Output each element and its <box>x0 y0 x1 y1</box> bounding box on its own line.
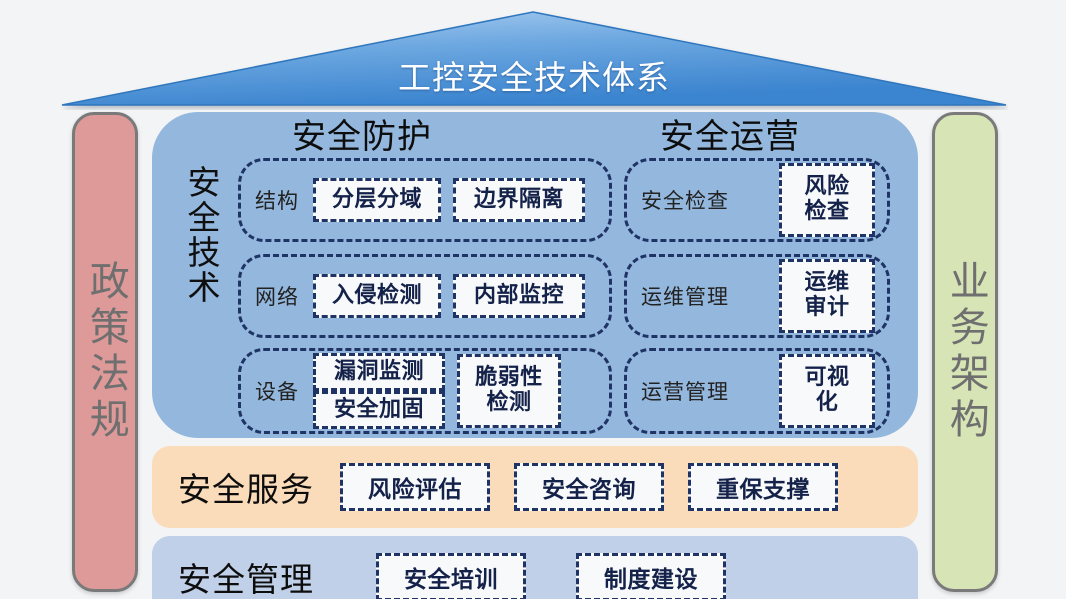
chip-line-2: 检测 <box>486 390 531 415</box>
chip-stack-device: 漏洞监测 安全加固 <box>313 353 445 429</box>
chip-line-1: 脆弱性 <box>475 365 543 390</box>
group-device-chips: 漏洞监测 安全加固 脆弱性 检测 <box>313 353 561 429</box>
group-network-chips: 入侵检测 内部监控 <box>313 274 585 318</box>
security-service-title: 安全服务 <box>178 463 314 511</box>
chip-line-1: 可视 <box>804 365 849 390</box>
pillar-left-label: 政策法规 <box>80 260 130 444</box>
security-technology-label: 安全技术 <box>163 165 219 305</box>
chip-major-security-support[interactable]: 重保支撑 <box>688 463 838 511</box>
column-heading-protection: 安全防护 <box>292 117 432 157</box>
chip-layered-zoning[interactable]: 分层分域 <box>313 178 441 222</box>
group-security-inspection-label: 安全检查 <box>641 185 729 215</box>
security-management-title: 安全管理 <box>178 553 314 599</box>
pillar-business-architecture: 业务架构 <box>932 112 998 592</box>
chip-visualization-text: 可视 化 <box>804 366 849 415</box>
pillar-policy-regulation: 政策法规 <box>72 112 138 592</box>
chip-ops-audit-text: 运维 审计 <box>804 271 849 320</box>
chip-system-construction[interactable]: 制度建设 <box>576 553 726 599</box>
chip-ops-audit[interactable]: 运维 审计 <box>779 259 875 333</box>
security-service-band: 安全服务 风险评估 安全咨询 重保支撑 <box>152 446 918 528</box>
chip-boundary-isolation[interactable]: 边界隔离 <box>453 178 585 222</box>
chip-line-2: 审计 <box>804 295 849 320</box>
group-structure-chips: 分层分域 边界隔离 <box>313 178 585 222</box>
chip-line-1: 风险 <box>804 174 849 199</box>
chip-security-hardening[interactable]: 安全加固 <box>313 391 445 429</box>
group-operation-management-label: 运营管理 <box>641 376 729 406</box>
chip-vulnerability-detection-text: 脆弱性 检测 <box>475 366 543 415</box>
chip-risk-assessment[interactable]: 风险评估 <box>340 463 490 511</box>
chip-line-2: 化 <box>816 390 839 415</box>
chip-internal-monitoring[interactable]: 内部监控 <box>453 274 585 318</box>
chip-vulnerability-monitoring[interactable]: 漏洞监测 <box>313 353 445 391</box>
chip-visualization[interactable]: 可视 化 <box>779 354 875 428</box>
group-operation-management: 运营管理 可视 化 <box>624 348 890 434</box>
group-device-label: 设备 <box>255 376 299 406</box>
security-management-chips: 安全培训 制度建设 <box>376 553 726 599</box>
chip-intrusion-detection[interactable]: 入侵检测 <box>313 274 441 318</box>
group-network-label: 网络 <box>255 281 299 311</box>
chip-security-consulting[interactable]: 安全咨询 <box>514 463 664 511</box>
chip-vulnerability-detection[interactable]: 脆弱性 检测 <box>457 354 561 428</box>
group-ops-maintenance-label: 运维管理 <box>641 281 729 311</box>
diagram-canvas: 工控安全技术体系 政策法规 业务架构 安全技术 安全防护 安全运营 结构 分层分… <box>0 0 1066 599</box>
group-structure-label: 结构 <box>255 185 299 215</box>
group-security-inspection: 安全检查 风险 检查 <box>624 158 890 242</box>
column-heading-operation: 安全运营 <box>660 117 800 157</box>
chip-risk-inspection-text: 风险 检查 <box>804 175 849 224</box>
security-management-band: 安全管理 安全培训 制度建设 <box>152 536 918 599</box>
chip-security-training[interactable]: 安全培训 <box>376 553 526 599</box>
group-ops-maintenance: 运维管理 运维 审计 <box>624 254 890 338</box>
roof-shape: 工控安全技术体系 <box>60 10 1008 110</box>
group-network: 网络 入侵检测 内部监控 <box>238 254 612 338</box>
chip-line-2: 检查 <box>804 199 849 224</box>
group-device: 设备 漏洞监测 安全加固 脆弱性 检测 <box>238 348 612 434</box>
security-service-chips: 风险评估 安全咨询 重保支撑 <box>340 463 838 511</box>
pillar-right-label: 业务架构 <box>940 260 990 444</box>
chip-line-1: 运维 <box>804 270 849 295</box>
chip-risk-inspection[interactable]: 风险 检查 <box>779 163 875 237</box>
group-structure: 结构 分层分域 边界隔离 <box>238 158 612 242</box>
